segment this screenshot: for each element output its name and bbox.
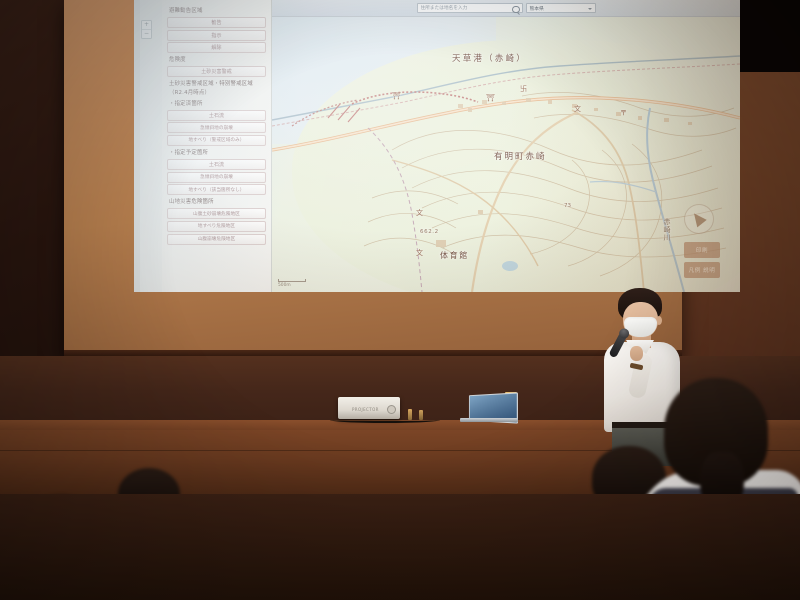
prefecture-select[interactable]: 熊本県	[526, 3, 596, 13]
photo-scene: 避難勧告区域 勧告 指示 解除 危険度 土砂災害警戒 土砂災害警戒区域・特別警戒…	[0, 0, 800, 600]
map-button-help[interactable]: 凡例 説明	[684, 262, 720, 278]
microphone-stand-second	[419, 410, 423, 420]
map-label-gymnasium: 体育館	[440, 250, 469, 261]
post-symbol-icon: 〒	[620, 108, 627, 118]
school-symbol-icon: 文	[574, 104, 581, 114]
map-label-elevation-2: 73	[564, 203, 571, 209]
search-icon[interactable]	[512, 6, 519, 13]
layer-button[interactable]: 山腹土砂崩壊危険地区	[167, 208, 266, 219]
map-canvas[interactable]: 天草港（赤崎） 有明町赤崎 体育館 662.2 73 赤崎川 ⛩ 卐 文 〒 文…	[272, 0, 740, 292]
layer-button[interactable]: 地すべり（警戒区域のみ）	[167, 135, 266, 146]
laptop-base	[460, 418, 518, 422]
panel-scrollbar[interactable]	[134, 0, 140, 292]
panel-group-title: 山地災害危険箇所	[169, 198, 267, 206]
compass-arrow	[689, 210, 706, 228]
microphone-stand	[408, 409, 412, 420]
map-label-elevation-1: 662.2	[420, 229, 439, 235]
map-button-print[interactable]: 印刷	[684, 242, 720, 258]
shrine-symbol-icon: ⛩	[486, 94, 495, 102]
layer-button[interactable]: 地すべり（該当箇所なし）	[167, 184, 266, 195]
panel-group-title: 土砂災害警戒区域・特別警戒区域（R2.4月時点）	[169, 80, 267, 96]
map-vector-layer	[272, 0, 740, 292]
layer-button[interactable]: 急傾斜地の崩壊	[167, 122, 266, 133]
cable	[330, 417, 440, 423]
scale-bar-line	[278, 279, 306, 282]
hazard-map-application: 避難勧告区域 勧告 指示 解除 危険度 土砂災害警戒 土砂災害警戒区域・特別警戒…	[134, 0, 740, 292]
map-zoom-control[interactable]: + −	[141, 20, 152, 39]
projector-label: PROJECTOR	[352, 407, 379, 412]
zoom-out-button[interactable]: −	[142, 30, 151, 38]
map-label-town: 有明町赤崎	[494, 150, 547, 162]
prefecture-value: 熊本県	[530, 5, 544, 12]
panel-group-title: ・指定予定箇所	[169, 149, 267, 157]
layer-button[interactable]: 土砂災害警戒	[167, 66, 266, 77]
panel-group-subtitle: ・指定済箇所	[169, 100, 267, 108]
projector-lens	[387, 405, 396, 414]
projected-slide: 避難勧告区域 勧告 指示 解除 危険度 土砂災害警戒 土砂災害警戒区域・特別警戒…	[134, 0, 740, 292]
map-label-river: 赤崎川	[662, 218, 672, 242]
layer-button[interactable]: 解除	[167, 42, 266, 53]
school-symbol-icon: 文	[416, 248, 423, 258]
layer-button[interactable]: 指示	[167, 30, 266, 41]
panel-group-title: 危険度	[169, 56, 267, 64]
school-symbol-icon: 文	[416, 208, 423, 218]
temple-symbol-icon: 卐	[520, 84, 527, 94]
search-input[interactable]: 住所または地名を入力	[417, 3, 523, 13]
room-wall-right-dark-panel	[730, 0, 800, 72]
projection-screen-frame: 避難勧告区域 勧告 指示 解除 危険度 土砂災害警戒 土砂災害警戒区域・特別警戒…	[64, 0, 682, 360]
map-label-port: 天草港（赤崎）	[452, 52, 527, 64]
zoom-in-button[interactable]: +	[142, 21, 151, 30]
layer-button[interactable]: 急傾斜地の崩壊	[167, 172, 266, 183]
map-search-toolbar: 住所または地名を入力 熊本県	[272, 0, 740, 17]
shrine-symbol-icon: ⛩	[392, 92, 401, 100]
compass-needle-icon[interactable]	[684, 204, 714, 234]
layer-button[interactable]: 地すべり危険地区	[167, 221, 266, 232]
chevron-down-icon[interactable]	[588, 8, 592, 10]
layer-button[interactable]: 土石流	[167, 159, 266, 170]
layer-button[interactable]: 土石流	[167, 110, 266, 121]
layer-button[interactable]: 勧告	[167, 17, 266, 28]
floor	[0, 494, 800, 600]
layer-panel: 避難勧告区域 勧告 指示 解除 危険度 土砂災害警戒 土砂災害警戒区域・特別警戒…	[162, 0, 272, 292]
search-placeholder: 住所または地名を入力	[421, 5, 468, 11]
layer-button[interactable]: 山腹崩壊危険地区	[167, 234, 266, 245]
scale-bar-label: 500m	[278, 283, 291, 288]
projector-device: PROJECTOR	[338, 397, 400, 419]
presenter-hand	[630, 346, 643, 361]
panel-group-title: 避難勧告区域	[169, 7, 267, 15]
